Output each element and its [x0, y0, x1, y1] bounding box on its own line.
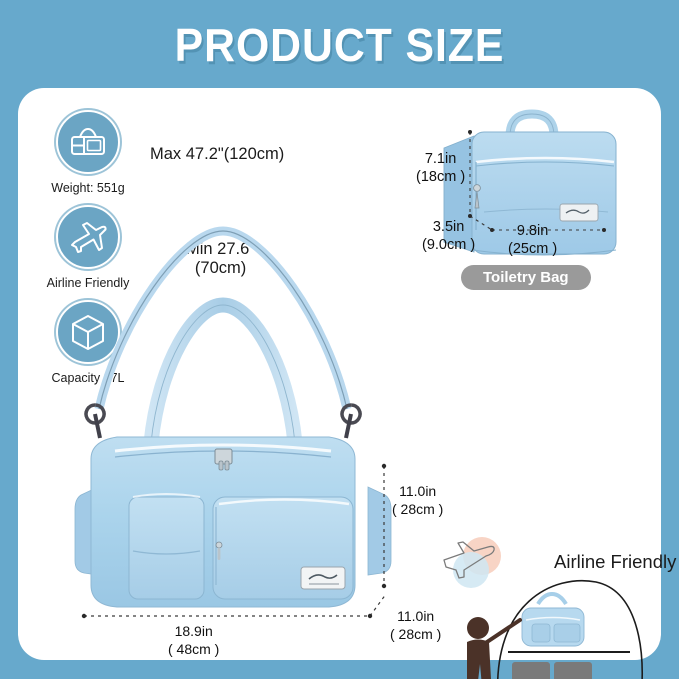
toiletry-depth-cm: (9.0cm ): [422, 236, 475, 254]
feature-weight: Weight: 551g: [36, 110, 140, 196]
main-duffel-bag-image: [73, 283, 393, 643]
toiletry-width-label: 9.8in (25cm ): [508, 222, 557, 258]
airline-friendly-heading: Airline Friendly: [554, 551, 676, 573]
toiletry-width-in: 9.8in: [508, 222, 557, 240]
main-bag-width-label: 18.9in ( 48cm ): [168, 623, 219, 658]
toiletry-height-in: 7.1in: [416, 150, 465, 168]
strap-max-label: Max 47.2"(120cm): [150, 145, 284, 164]
strap-min-cm: (70cm): [186, 259, 255, 278]
cabin-bag-illustration: [434, 576, 664, 679]
infographic-page: PRODUCT SIZE Weight: 551g Airlin: [0, 0, 679, 679]
feature-airline: Airline Friendly: [36, 205, 140, 291]
toiletry-depth-in: 3.5in: [422, 218, 475, 236]
feature-weight-label: Weight: 551g: [36, 181, 140, 196]
toiletry-height-cm: (18cm ): [416, 168, 465, 186]
duffel-bag-icon: [56, 110, 120, 174]
toiletry-height-label: 7.1in (18cm ): [416, 150, 465, 186]
toiletry-width-cm: (25cm ): [508, 240, 557, 258]
page-title: PRODUCT SIZE: [24, 18, 655, 72]
airline-friendly-section: Airline Friendly: [424, 306, 679, 636]
content-card: Weight: 551g Airline Friendly Capacity 3…: [18, 88, 661, 660]
airplane-icon: [56, 205, 120, 269]
main-bag-width-in: 18.9in: [168, 623, 219, 641]
toiletry-bag-pill: Toiletry Bag: [461, 265, 591, 290]
toiletry-depth-label: 3.5in (9.0cm ): [422, 218, 475, 254]
main-bag-width-cm: ( 48cm ): [168, 641, 219, 659]
